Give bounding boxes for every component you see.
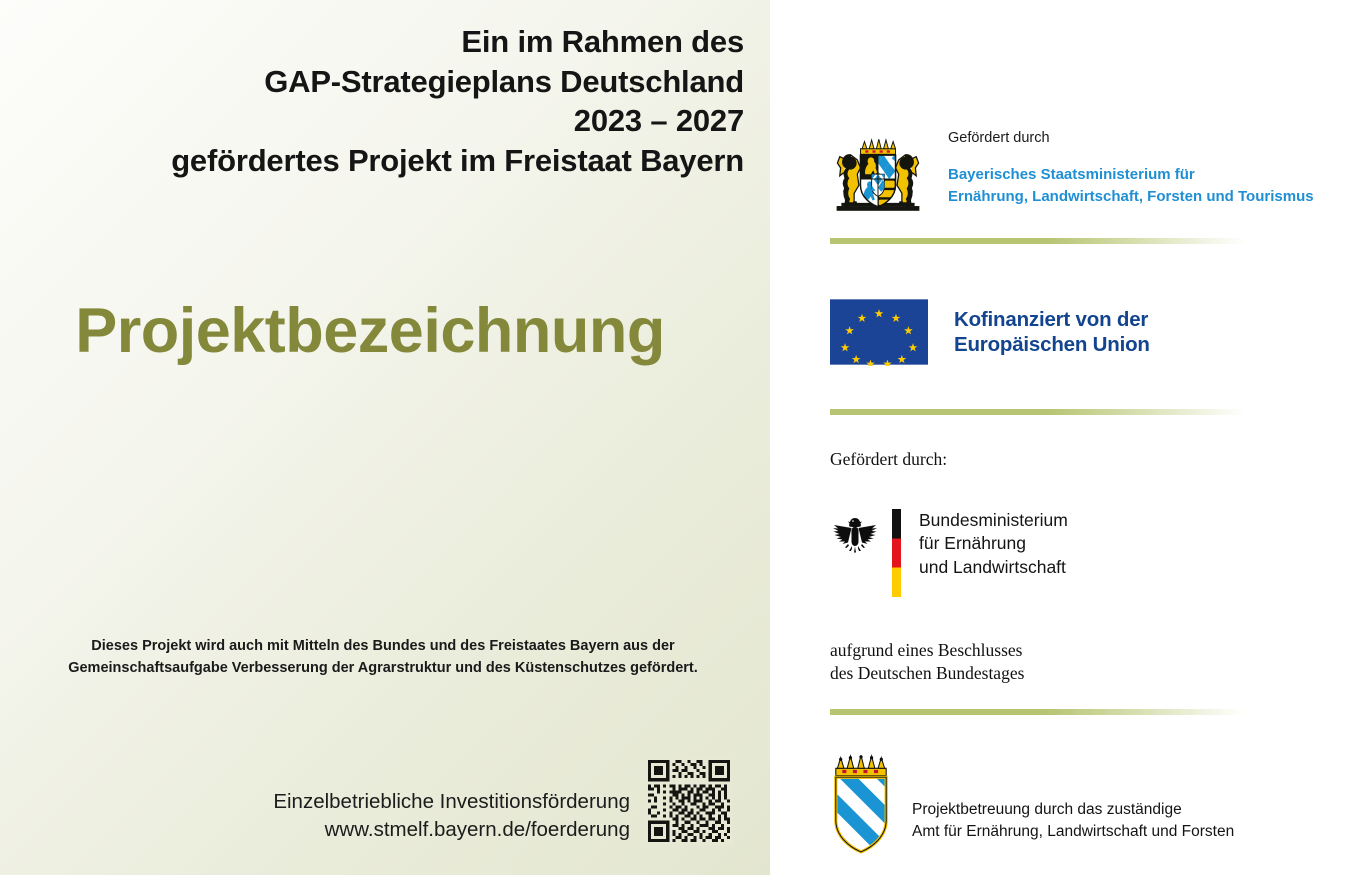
bmel-name-line-1: Bundesministerium — [919, 509, 1068, 532]
aelf-text: Projektbetreuung durch das zuständige Am… — [912, 799, 1234, 856]
footer-url[interactable]: www.stmelf.bayern.de/foerderung — [150, 816, 630, 844]
bavarian-ministry-name: Bayerisches Staatsministerium für Ernähr… — [948, 164, 1314, 207]
qr-code[interactable] — [645, 757, 733, 845]
bundestag-note-line-2: des Deutschen Bundestages — [830, 662, 1350, 685]
eu-text-line-2: Europäischen Union — [954, 332, 1150, 357]
aelf-text-line-1: Projektbetreuung durch das zuständige — [912, 799, 1234, 822]
eu-flag-icon — [830, 298, 928, 366]
headline-line-2: GAP-Strategieplans Deutschland — [34, 62, 744, 102]
sponsor-block-eu: Kofinanziert von der Europäischen Union — [830, 298, 1350, 366]
bavarian-ministry-kicker: Gefördert durch — [948, 130, 1314, 147]
bmel-name-line-2: für Ernährung — [919, 532, 1068, 555]
headline-line-3: 2023 – 2027 — [34, 101, 744, 141]
headline-line-1: Ein im Rahmen des — [34, 22, 744, 62]
bundestag-note-line-1: aufgrund eines Beschlusses — [830, 639, 1350, 662]
project-title: Projektbezeichnung — [0, 300, 740, 363]
divider-3 — [830, 709, 1246, 715]
bmel-name-line-3: und Landwirtschaft — [919, 556, 1068, 579]
divider-1 — [830, 238, 1246, 244]
german-flag-bar-icon — [892, 509, 901, 597]
divider-2 — [830, 409, 1246, 415]
sponsor-column: Gefördert durch Bayerisches Staatsminist… — [770, 0, 1352, 875]
eu-cofunding-text: Kofinanziert von der Europäischen Union — [954, 307, 1150, 357]
footer-programme-label: Einzelbetriebliche Investitionsförderung — [150, 788, 630, 816]
federal-eagle-icon — [830, 513, 880, 563]
sponsor-block-aelf: Projektbetreuung durch das zuständige Am… — [830, 752, 1350, 856]
left-panel: Ein im Rahmen des GAP-Strategieplans Deu… — [0, 0, 770, 875]
bmel-name: Bundesministerium für Ernährung und Land… — [919, 509, 1068, 579]
footer-text: Einzelbetriebliche Investitionsförderung… — [150, 788, 630, 845]
eu-text-line-1: Kofinanziert von der — [954, 307, 1150, 332]
gak-note-line-2: Gemeinschaftsaufgabe Verbesserung der Ag… — [18, 658, 748, 680]
bavaria-shield-icon — [830, 752, 892, 856]
headline-line-4: gefördertes Projekt im Freistaat Bayern — [34, 141, 744, 181]
bmel-kicker: Gefördert durch: — [830, 448, 1350, 471]
bavarian-ministry-name-line-2: Ernährung, Landwirtschaft, Forsten und T… — [948, 186, 1314, 207]
bavaria-coat-of-arms-icon — [830, 136, 926, 214]
bundestag-decision-note: aufgrund eines Beschlusses des Deutschen… — [830, 639, 1350, 685]
poster-canvas: Ein im Rahmen des GAP-Strategieplans Deu… — [0, 0, 1352, 875]
gak-note-line-1: Dieses Projekt wird auch mit Mitteln des… — [18, 636, 748, 658]
headline: Ein im Rahmen des GAP-Strategieplans Deu… — [34, 22, 744, 181]
aelf-text-line-2: Amt für Ernährung, Landwirtschaft und Fo… — [912, 821, 1234, 844]
gak-funding-note: Dieses Projekt wird auch mit Mitteln des… — [18, 636, 748, 680]
bavarian-ministry-name-line-1: Bayerisches Staatsministerium für — [948, 164, 1314, 185]
sponsor-block-bavarian-ministry: Gefördert durch Bayerisches Staatsminist… — [830, 128, 1350, 214]
sponsor-block-bmel: Gefördert durch: — [830, 448, 1350, 684]
